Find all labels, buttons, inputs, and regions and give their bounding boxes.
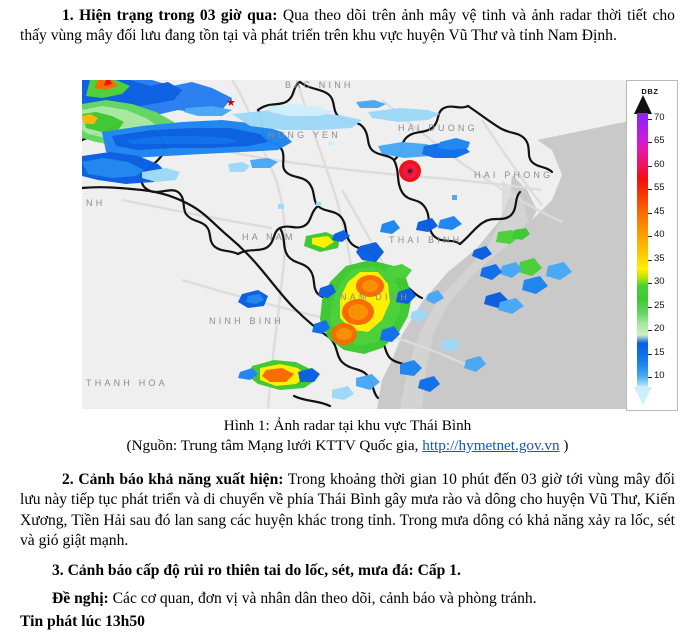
colorbar-tick	[648, 330, 652, 331]
station-star-icon: ★	[226, 98, 236, 109]
colorbar-tick	[648, 377, 652, 378]
figure-source-suffix: )	[560, 437, 569, 454]
colorbar-tick	[648, 142, 652, 143]
colorbar-tick	[648, 189, 652, 190]
colorbar-top-arrow-icon	[634, 95, 652, 114]
colorbar-label-35: 35	[654, 254, 665, 264]
section-3-paragraph: 3. Cảnh báo cấp độ rủi ro thiên tai do l…	[20, 561, 675, 581]
map-label-hoa-binh-partial: NH	[86, 198, 105, 208]
colorbar-tick	[648, 166, 652, 167]
figure-caption: Hình 1: Ảnh radar tại khu vực Thái Bình …	[20, 416, 675, 456]
colorbar-tick	[648, 213, 652, 214]
section-3-heading: 3. Cảnh báo cấp độ rủi ro thiên tai do l…	[52, 562, 461, 579]
map-label-bac-ninh: BAC NINH	[285, 80, 354, 90]
radar-figure: BAC NINH HUNG YEN HAI DUONG HAI PHONG HA…	[56, 78, 676, 411]
colorbar-tick	[648, 283, 652, 284]
map-label-hai-duong: HAI DUONG	[398, 123, 478, 133]
map-label-thai-binh: THAI BINH	[389, 235, 462, 245]
map-label-hai-phong: HAI PHONG	[474, 170, 553, 180]
map-label-hung-yen: HUNG YEN	[268, 130, 341, 140]
radar-echoes	[82, 80, 634, 409]
section-1-heading: 1. Hiện trạng trong 03 giờ qua:	[62, 7, 277, 24]
colorbar-label-60: 60	[654, 160, 665, 170]
map-label-ha-nam: HA NAM	[242, 232, 296, 242]
figure-caption-line1: Hình 1: Ảnh radar tại khu vực Thái Bình	[20, 416, 675, 436]
colorbar-label-55: 55	[654, 183, 665, 193]
map-label-nam-dinh: NAM DINH	[340, 292, 410, 302]
colorbar-tick	[648, 119, 652, 120]
radar-colorbar: DBZ 70 65 60 55 45 40 35 30 25 20 1	[626, 80, 678, 411]
colorbar-bottom-arrow-icon	[634, 387, 652, 405]
radar-warning-document: 1. Hiện trạng trong 03 giờ qua: Qua theo…	[0, 0, 692, 638]
recommendation-heading: Đề nghị:	[52, 590, 109, 607]
issued-time: Tin phát lúc 13h50	[20, 612, 675, 632]
colorbar-label-25: 25	[654, 301, 665, 311]
map-label-thanh-hoa: THANH HOA	[86, 378, 168, 388]
colorbar-label-15: 15	[654, 348, 665, 358]
colorbar-tick	[648, 236, 652, 237]
colorbar-tick	[648, 307, 652, 308]
colorbar-label-45: 45	[654, 207, 665, 217]
colorbar-label-10: 10	[654, 371, 665, 381]
section-1-paragraph: 1. Hiện trạng trong 03 giờ qua: Qua theo…	[20, 6, 675, 47]
section-2-heading: 2. Cảnh báo khả năng xuất hiện:	[62, 471, 283, 488]
colorbar-tick	[648, 354, 652, 355]
colorbar-label-20: 20	[654, 324, 665, 334]
colorbar-label-70: 70	[654, 113, 665, 123]
colorbar-label-65: 65	[654, 136, 665, 146]
figure-source-link[interactable]: http://hymetnet.gov.vn	[422, 437, 559, 454]
colorbar-label-40: 40	[654, 230, 665, 240]
colorbar-label-30: 30	[654, 277, 665, 287]
map-label-ninh-binh: NINH BINH	[209, 316, 284, 326]
radar-map: BAC NINH HUNG YEN HAI DUONG HAI PHONG HA…	[82, 80, 634, 409]
colorbar-gradient	[637, 113, 648, 387]
colorbar-tick	[648, 260, 652, 261]
figure-caption-line2: (Nguồn: Trung tâm Mạng lưới KTTV Quốc gi…	[20, 436, 675, 456]
section-2-paragraph: 2. Cảnh báo khả năng xuất hiện: Trong kh…	[20, 470, 675, 551]
recommendation-paragraph: Đề nghị: Các cơ quan, đơn vị và nhân dân…	[20, 589, 675, 609]
figure-source-prefix: (Nguồn: Trung tâm Mạng lưới KTTV Quốc gi…	[127, 437, 423, 454]
recommendation-body: Các cơ quan, đơn vị và nhân dân theo dõi…	[109, 590, 537, 607]
